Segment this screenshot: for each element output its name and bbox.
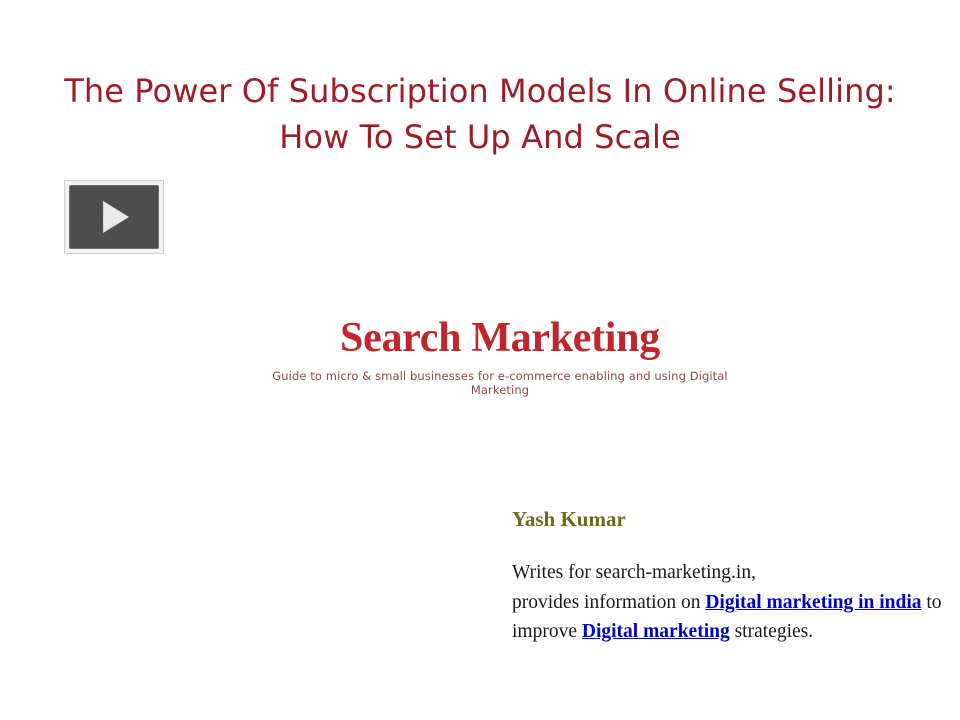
author-bio-line2-prefix: provides information on	[512, 592, 705, 613]
brand-logo: Search Marketing Guide to micro & small …	[255, 316, 745, 397]
author-block: Yash Kumar Writes for search-marketing.i…	[512, 507, 942, 647]
slide-canvas: The Power Of Subscription Models In Onli…	[0, 0, 960, 720]
brand-name: Search Marketing	[255, 316, 745, 360]
link-digital-marketing[interactable]: Digital marketing	[582, 621, 730, 642]
author-bio-line1: Writes for search-marketing.in,	[512, 562, 756, 583]
link-digital-marketing-in-india[interactable]: Digital marketing in india	[705, 592, 921, 613]
play-icon	[69, 185, 159, 249]
page-title: The Power Of Subscription Models In Onli…	[60, 68, 900, 161]
author-name: Yash Kumar	[512, 507, 942, 532]
brand-tagline: Guide to micro & small businesses for e-…	[255, 369, 745, 397]
author-bio-suffix: strategies.	[730, 621, 813, 642]
video-play-button[interactable]	[64, 180, 164, 254]
author-bio: Writes for search-marketing.in, provides…	[512, 558, 942, 647]
